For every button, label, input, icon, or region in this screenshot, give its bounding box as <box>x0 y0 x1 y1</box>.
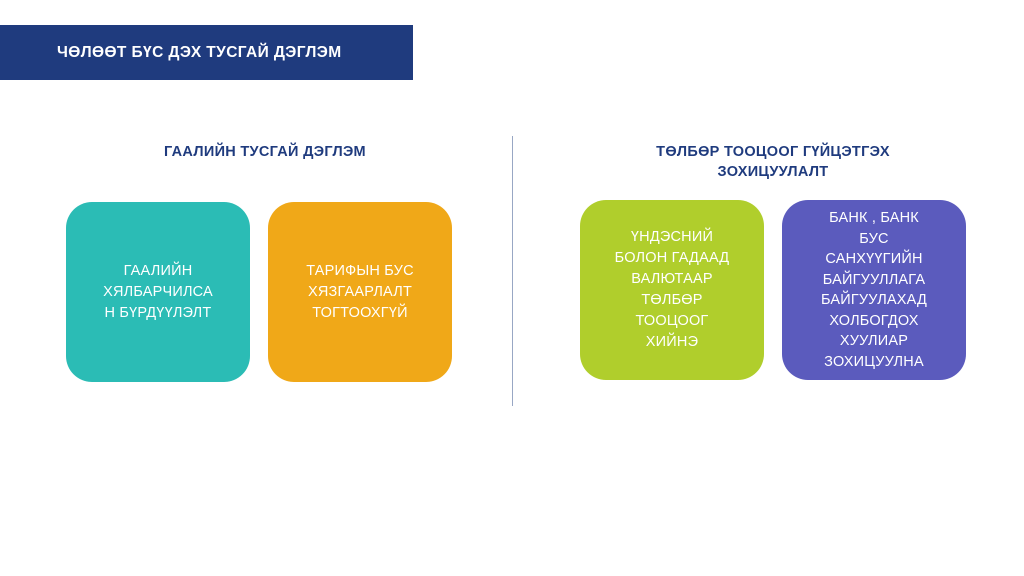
card-no-nontariff-restrictions[interactable]: ТАРИФЫН БУС ХЯЗГААРЛАЛТ ТОГТООХГҮЙ <box>268 202 452 382</box>
column-divider <box>512 136 513 406</box>
slide-canvas: ЧӨЛӨӨТ БҮС ДЭХ ТУСГАЙ ДЭГЛЭМ ГААЛИЙН ТУС… <box>0 0 1024 576</box>
card-domestic-foreign-currency-settlement[interactable]: ҮНДЭСНИЙ БОЛОН ГАДААД ВАЛЮТААР ТӨЛБӨР ТО… <box>580 200 764 380</box>
header-banner: ЧӨЛӨӨТ БҮС ДЭХ ТУСГАЙ ДЭГЛЭМ <box>0 25 413 80</box>
page-title: ЧӨЛӨӨТ БҮС ДЭХ ТУСГАЙ ДЭГЛЭМ <box>0 44 342 62</box>
card-label: ТАРИФЫН БУС ХЯЗГААРЛАЛТ ТОГТООХГҮЙ <box>306 261 414 324</box>
card-label: ГААЛИЙН ХЯЛБАРЧИЛСА Н БҮРДҮҮЛЭЛТ <box>103 261 213 324</box>
card-customs-simplified-clearance[interactable]: ГААЛИЙН ХЯЛБАРЧИЛСА Н БҮРДҮҮЛЭЛТ <box>66 202 250 382</box>
card-bank-nonbank-financial-institution-law[interactable]: БАНК , БАНК БУС САНХҮҮГИЙН БАЙГУУЛЛАГА Б… <box>782 200 966 380</box>
right-column-title: ТӨЛБӨР ТООЦООГ ГҮЙЦЭТГЭХ ЗОХИЦУУЛАЛТ <box>568 142 978 182</box>
card-label: БАНК , БАНК БУС САНХҮҮГИЙН БАЙГУУЛЛАГА Б… <box>821 208 927 372</box>
left-column-title: ГААЛИЙН ТУСГАЙ ДЭГЛЭМ <box>75 142 455 162</box>
card-label: ҮНДЭСНИЙ БОЛОН ГАДААД ВАЛЮТААР ТӨЛБӨР ТО… <box>615 227 730 353</box>
